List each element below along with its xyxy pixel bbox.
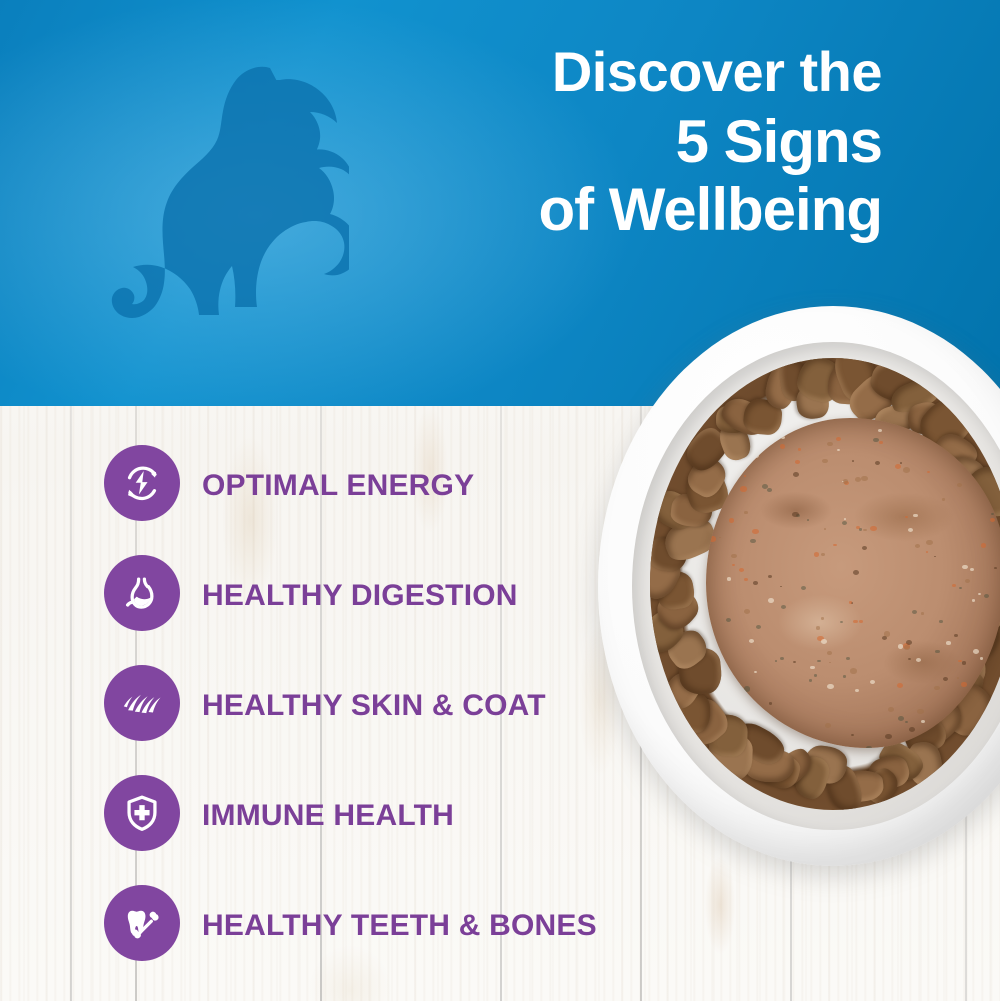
pate-fleck [978, 593, 981, 596]
pate-fleck [816, 626, 821, 630]
pate-fleck [921, 612, 924, 614]
pate-fleck [866, 746, 872, 748]
pate-fleck [840, 621, 843, 624]
pate-fleck [775, 429, 782, 434]
pate-fleck [853, 570, 859, 575]
pate-fleck [809, 679, 812, 682]
pate-fleck [768, 575, 772, 578]
pate-fleck [885, 734, 892, 739]
pate-fleck [965, 579, 970, 583]
feature-row-healthy-skin-coat[interactable]: HEALTHY SKIN & COAT [104, 665, 664, 775]
promo-graphic: Discover the 5 Signs of Wellbeing OPTIMA… [0, 0, 1000, 1001]
pate-fleck [814, 552, 819, 556]
pate-fleck [898, 644, 904, 648]
feature-label: OPTIMAL ENERGY [202, 469, 474, 503]
pate-fleck [917, 709, 924, 714]
pate-fleck [962, 661, 967, 665]
pate-fleck [853, 620, 858, 624]
pate-fleck [849, 601, 852, 603]
tooth-and-bone-icon [104, 885, 180, 961]
pate-fleck [861, 476, 868, 481]
pate-fleck [957, 483, 962, 487]
pate-fleck [905, 721, 907, 723]
pate-fleck [775, 660, 778, 662]
pate-fleck [952, 584, 956, 587]
pate-fleck [744, 609, 750, 614]
pate-fleck [859, 528, 862, 531]
pate-fleck [780, 444, 786, 448]
pate-fleck [768, 598, 774, 603]
pate-fleck [946, 641, 950, 645]
fur-strands-icon [104, 665, 180, 741]
pate-fleck [801, 586, 806, 590]
pate-fleck [996, 455, 998, 457]
pate-fleck [852, 460, 855, 462]
pate-fleck [862, 546, 867, 550]
pate-fleck [913, 514, 918, 518]
pate-fleck [912, 610, 917, 614]
pate-fleck [994, 567, 996, 569]
pate-fleck [781, 605, 786, 609]
pate-fleck [829, 662, 831, 664]
pate-fleck [764, 418, 768, 421]
pate-fleck [821, 639, 827, 644]
pate-fleck [726, 452, 729, 454]
pate-fleck [780, 657, 784, 660]
title-line-1: Discover the [538, 44, 882, 100]
pate-fleck [959, 587, 962, 589]
pate-fleck [722, 438, 725, 440]
pate-fleck [898, 716, 904, 721]
pate-fleck [740, 486, 746, 491]
pate-fleck [721, 427, 723, 429]
pate-fleck [825, 723, 831, 728]
pate-fleck [943, 677, 948, 681]
pate-fleck [908, 658, 911, 660]
pate-fleck [942, 498, 945, 501]
pate-fleck [933, 421, 940, 427]
pate-fleck [985, 717, 987, 719]
pate-fleck [879, 441, 883, 444]
pate-fleck [873, 438, 878, 442]
dog-silhouette-icon [84, 46, 349, 336]
pate-fleck [875, 461, 880, 465]
pate-fleck [744, 578, 748, 581]
pate-fleck [750, 539, 756, 544]
pate-fleck [710, 708, 713, 711]
pate-fleck [921, 720, 925, 723]
pate-fleck [827, 651, 832, 655]
pate-fleck [731, 554, 736, 558]
pate-fleck [752, 529, 759, 534]
pate-fleck [739, 568, 744, 572]
pate-fleck [980, 657, 984, 660]
feature-row-healthy-digestion[interactable]: HEALTHY DIGESTION [104, 555, 664, 665]
pate-fleck [850, 668, 857, 673]
pate-fleck [904, 645, 909, 649]
pate-fleck [973, 649, 979, 654]
title-line-3: of Wellbeing [538, 178, 882, 242]
pate-fleck [910, 743, 913, 746]
pate-fleck [753, 581, 758, 585]
pate-fleck [900, 462, 902, 464]
pate-fleck [726, 618, 731, 622]
pate-fleck [807, 519, 810, 521]
pate-fleck [739, 684, 743, 687]
pate-fleck [729, 518, 734, 522]
pate-fleck [781, 436, 785, 439]
pate-fleck [908, 528, 913, 532]
pate-fleck [817, 660, 821, 663]
pate-fleck [926, 551, 928, 553]
pate-fleck [916, 658, 921, 662]
pate-fleck [863, 529, 867, 532]
pate-fleck [707, 444, 711, 447]
pate-fleck [810, 418, 812, 420]
pate-fleck [855, 689, 859, 692]
pate-fleck [957, 723, 960, 726]
pate-fleck [939, 620, 943, 623]
pate-fleck [990, 518, 995, 522]
pate-fleck [859, 620, 863, 623]
pate-fleck [769, 702, 772, 704]
pate-fleck [878, 429, 882, 432]
pate-fleck [715, 724, 721, 729]
pate-fleck [836, 437, 841, 441]
pate-fleck [756, 625, 761, 629]
feature-label: HEALTHY TEETH & BONES [202, 909, 597, 943]
pate-fleck [793, 472, 800, 477]
pate-fleck [961, 682, 967, 686]
pate-fleck [749, 639, 754, 643]
pate-fleck [970, 568, 974, 571]
pate-fleck [842, 521, 847, 525]
pate-fleck [844, 518, 847, 520]
pate-fleck [753, 453, 759, 458]
pate-fleck [744, 511, 748, 514]
pate-fleck [821, 553, 825, 556]
energy-refresh-bolt-icon [104, 445, 180, 521]
pate-fleck [843, 479, 848, 483]
pate-fleck [964, 700, 970, 705]
feature-label: IMMUNE HEALTH [202, 799, 454, 833]
pate-fleck [746, 717, 750, 720]
pate-fleck [926, 540, 933, 545]
pate-fleck [906, 640, 912, 645]
pate-fleck [719, 537, 721, 539]
pate-fleck [909, 727, 915, 732]
pate-fleck [814, 674, 818, 677]
pate-fleck [709, 495, 714, 499]
pate-fleck [792, 512, 799, 517]
pate-fleck [991, 513, 994, 516]
pate-fleck [927, 471, 930, 473]
pate-fleck [954, 634, 958, 637]
pate-fleck [793, 661, 796, 663]
banner-title: Discover the 5 Signs of Wellbeing [538, 44, 882, 241]
pate-fleck [934, 556, 936, 558]
title-line-2: 5 Signs [538, 110, 882, 174]
pate-fleck [790, 747, 793, 748]
pate-fleck [981, 543, 987, 547]
pate-fleck [870, 526, 877, 531]
pate-fleck [934, 686, 939, 690]
pate-fleck [915, 544, 920, 548]
pate-fleck [957, 677, 959, 679]
pate-fleck [709, 536, 715, 541]
pate-fleck [767, 488, 772, 492]
feature-row-healthy-teeth-bones[interactable]: HEALTHY TEETH & BONES [104, 885, 664, 995]
stomach-icon [104, 555, 180, 631]
pate-fleck [822, 459, 827, 463]
pate-fleck [833, 544, 837, 547]
pate-fleck [798, 448, 801, 451]
pate-fleck [821, 617, 824, 620]
pate-fleck [843, 675, 846, 677]
pate-fleck [972, 599, 975, 602]
pate-fleck [824, 528, 826, 530]
pate-fleck [962, 565, 968, 569]
pate-fleck [827, 442, 833, 447]
pate-fleck [810, 666, 815, 670]
pate-fleck [744, 686, 751, 691]
pate-fleck [851, 734, 854, 736]
pate-fleck [897, 683, 903, 688]
pate-fleck [732, 564, 734, 566]
pate-fleck [827, 684, 834, 690]
pate-fleck [846, 657, 850, 660]
shield-cross-icon [104, 775, 180, 851]
pate-fleck [780, 586, 782, 588]
pate-fleck [744, 475, 747, 477]
pate-fleck [855, 477, 861, 482]
pate-fleck [870, 680, 875, 684]
pate-fleck [984, 594, 989, 598]
pate-fleck [905, 516, 908, 518]
pate-fleck [837, 449, 840, 451]
pate-fleck [795, 460, 800, 464]
pate-fleck [935, 650, 940, 654]
feature-row-immune-health[interactable]: IMMUNE HEALTH [104, 775, 664, 885]
pate-fleck [888, 707, 894, 712]
pate-fleck [882, 636, 887, 640]
feature-label: HEALTHY SKIN & COAT [202, 689, 546, 723]
pate-fleck [772, 441, 775, 443]
pate-fleck [895, 464, 902, 469]
feature-row-optimal-energy[interactable]: OPTIMAL ENERGY [104, 445, 664, 555]
feature-label: HEALTHY DIGESTION [202, 579, 518, 613]
pate-fleck [754, 671, 757, 673]
pate-fleck [727, 577, 732, 581]
wellbeing-feature-list: OPTIMAL ENERGY HEALTHY DIGESTION HEALTHY… [104, 445, 664, 995]
pate-fleck [903, 467, 910, 473]
